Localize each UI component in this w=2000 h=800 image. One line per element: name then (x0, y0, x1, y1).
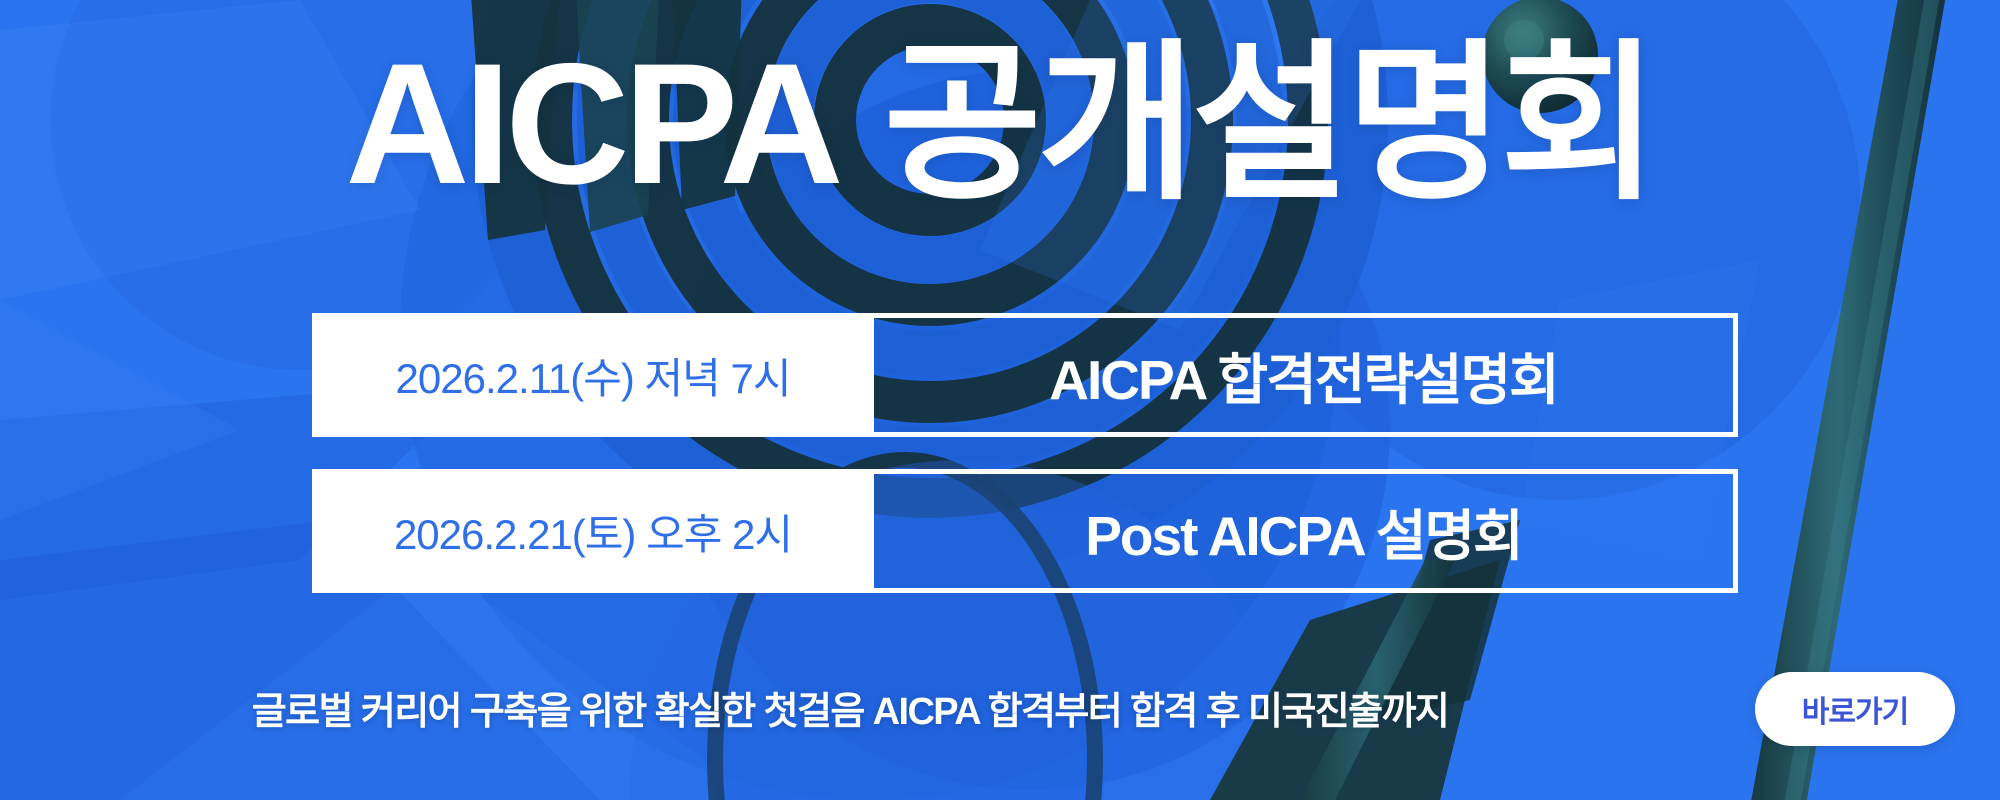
tagline: 글로벌 커리어 구축을 위한 확실한 첫걸음 AICPA 합격부터 합격 후 미… (0, 680, 1700, 735)
title-korean: 공개설명회 (883, 28, 1654, 220)
page-title: AICPA 공개설명회 (0, 28, 2000, 221)
schedule-row[interactable]: 2026.2.21(토) 오후 2시 Post AICPA 설명회 (312, 469, 1738, 593)
schedule-row[interactable]: 2026.2.11(수) 저녁 7시 AICPA 합격전략설명회 (312, 313, 1738, 437)
schedule-session-name: Post AICPA 설명회 (874, 469, 1738, 593)
schedule-session-name: AICPA 합격전략설명회 (874, 313, 1738, 437)
schedule-date: 2026.2.21(토) 오후 2시 (312, 469, 874, 593)
schedule-date: 2026.2.11(수) 저녁 7시 (312, 313, 874, 437)
aicpa-promo-banner: AICPA 공개설명회 2026.2.11(수) 저녁 7시 AICPA 합격전… (0, 0, 2000, 800)
schedule-list: 2026.2.11(수) 저녁 7시 AICPA 합격전략설명회 2026.2.… (312, 313, 1738, 593)
banner-content: AICPA 공개설명회 2026.2.11(수) 저녁 7시 AICPA 합격전… (0, 0, 2000, 800)
go-button[interactable]: 바로가기 (1755, 672, 1955, 746)
title-english: AICPA (345, 28, 837, 220)
